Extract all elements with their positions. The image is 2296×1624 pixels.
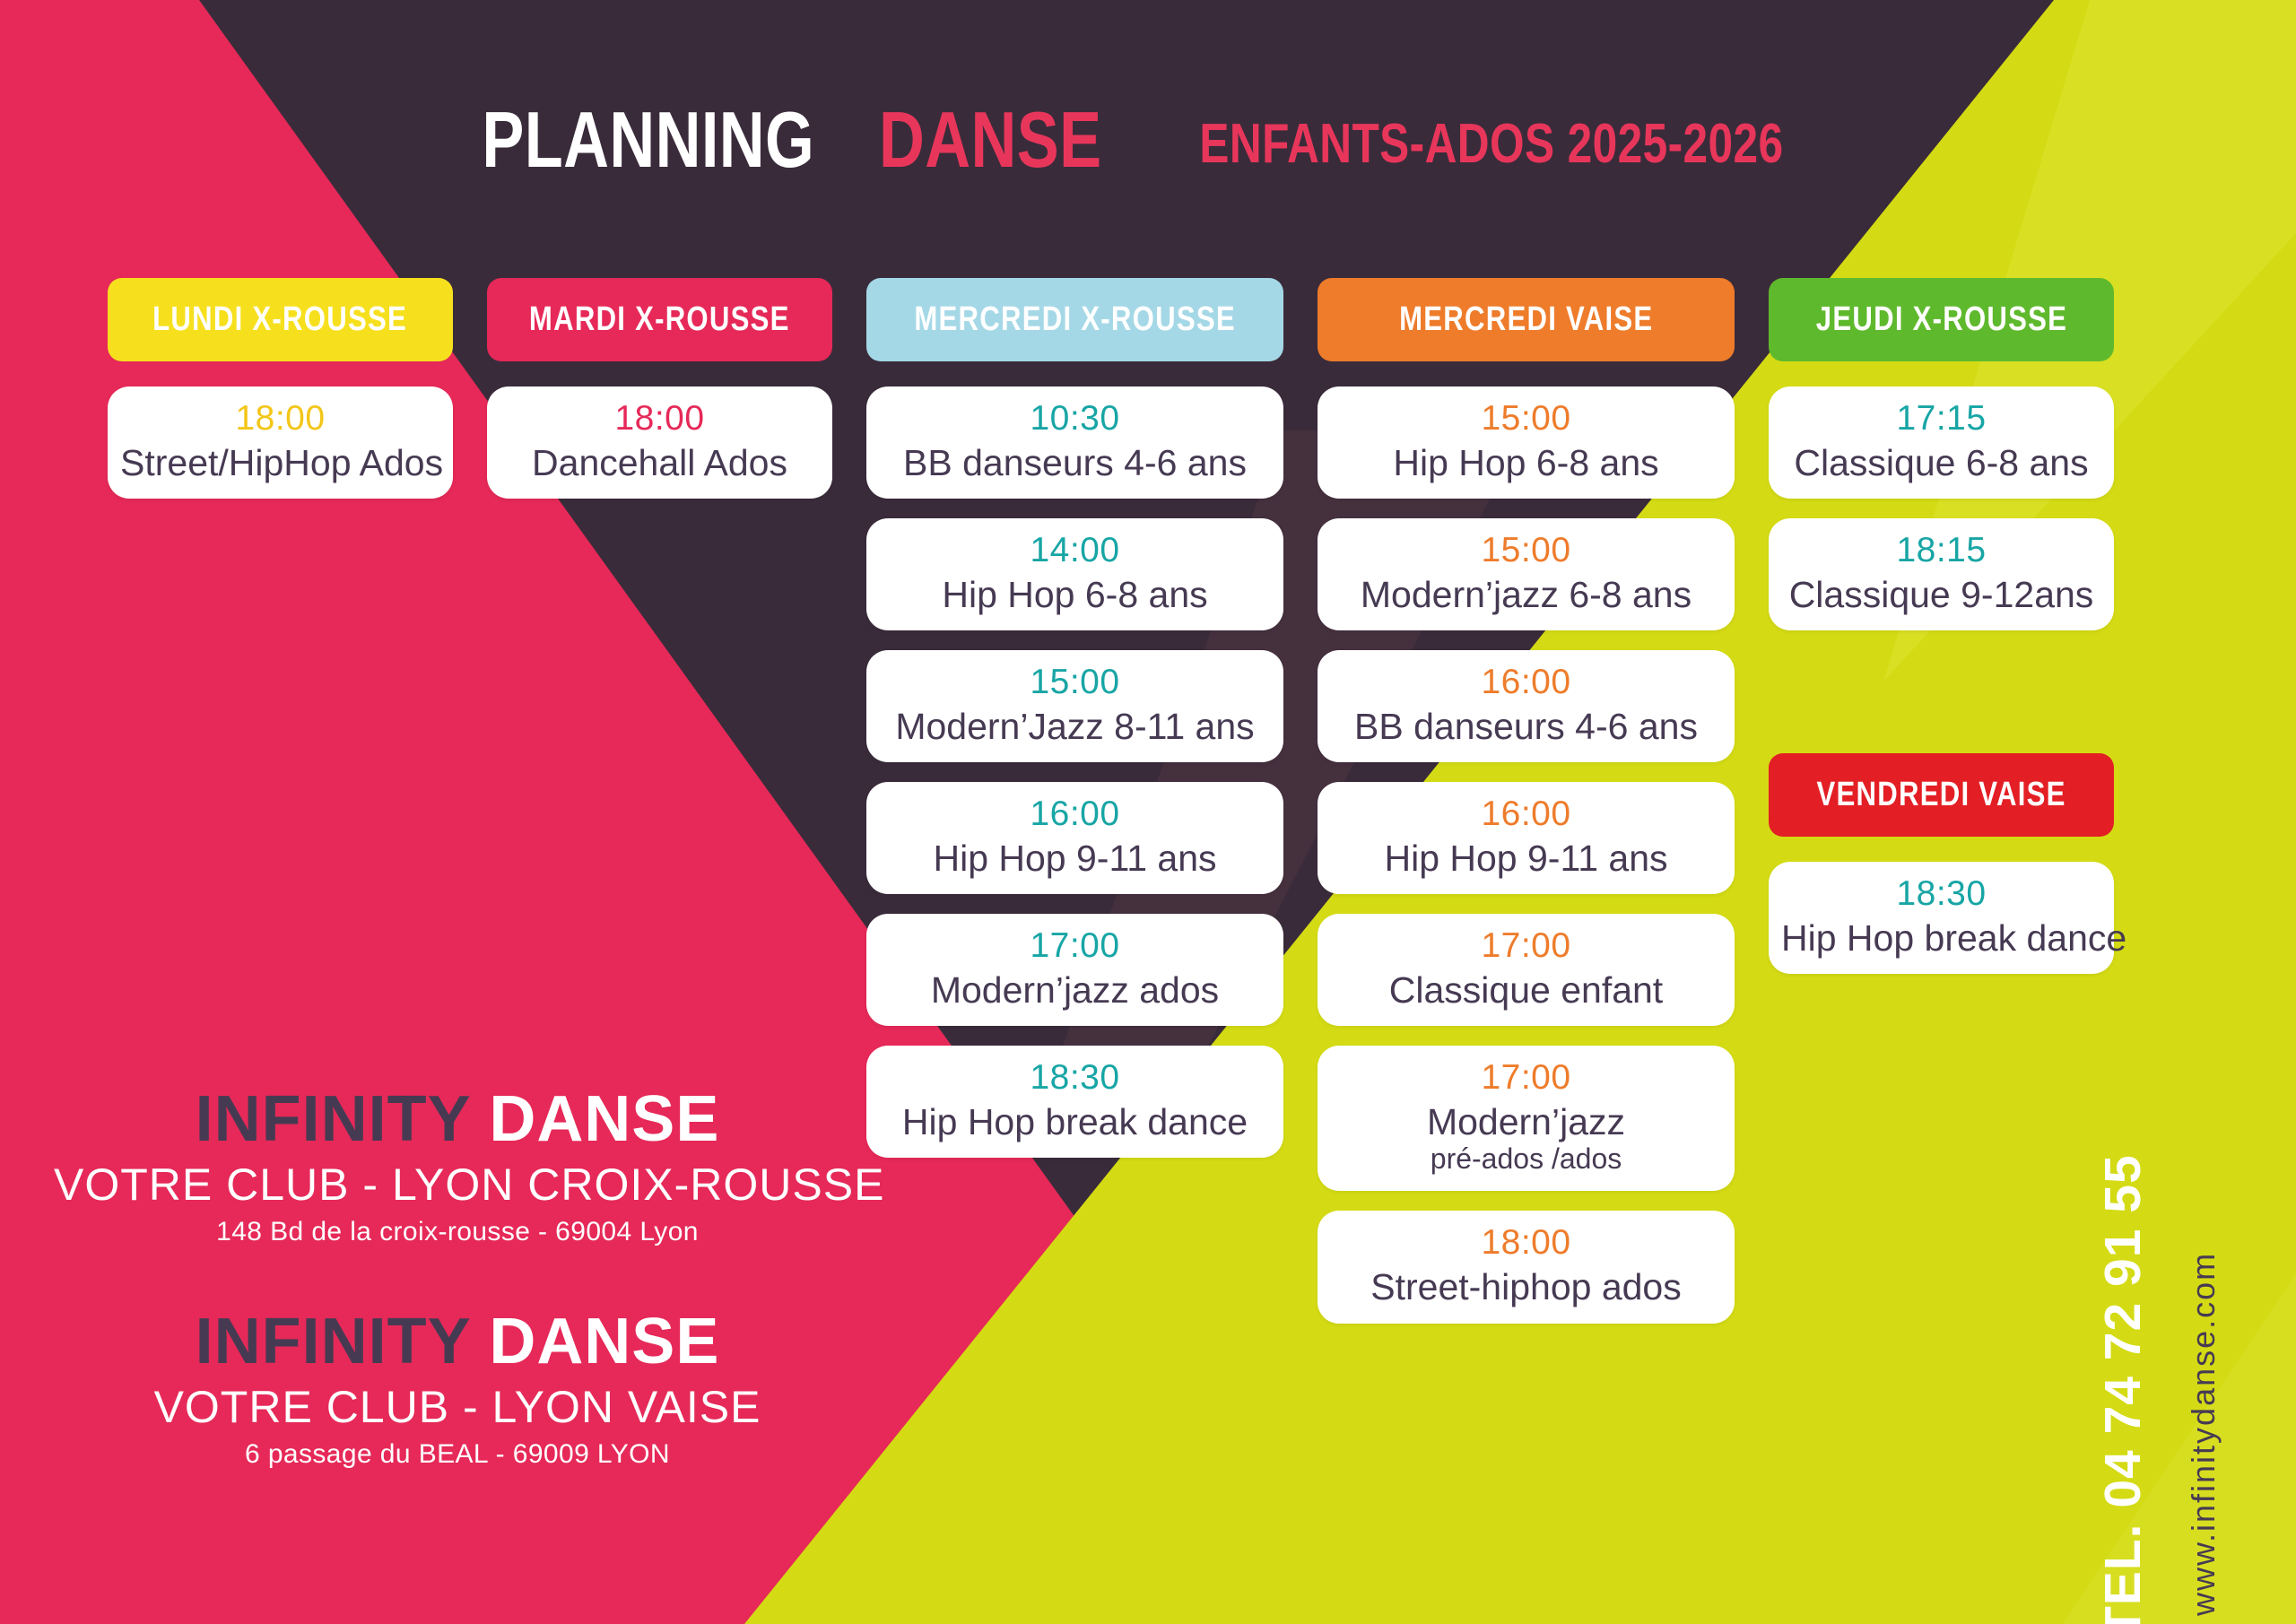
class-card[interactable]: 18:30 Hip Hop break dance bbox=[866, 1046, 1283, 1158]
day-header-lundi-x-rousse[interactable]: LUNDI X-ROUSSE bbox=[108, 278, 453, 361]
class-card[interactable]: 15:00 Hip Hop 6-8 ans bbox=[1318, 386, 1735, 499]
day-column-lundi-x-rousse: LUNDI X-ROUSSE 18:00 Street/HipHop Ados bbox=[108, 278, 453, 518]
day-header-label: JEUDI X-ROUSSE bbox=[1815, 300, 2066, 339]
day-header-mercredi-vaise[interactable]: MERCREDI VAISE bbox=[1318, 278, 1735, 361]
day-column-jeudi-vendredi: JEUDI X-ROUSSE 17:15 Classique 6-8 ans 1… bbox=[1769, 278, 2114, 994]
class-time: 16:00 bbox=[879, 796, 1271, 831]
logo-word-infinity: INFINITY bbox=[196, 1306, 471, 1377]
day-header-vendredi-vaise[interactable]: VENDREDI VAISE bbox=[1769, 753, 2114, 837]
logo-word-danse: DANSE bbox=[470, 1306, 719, 1377]
class-time: 15:00 bbox=[879, 664, 1271, 699]
class-name: Modern’jazz 6-8 ans bbox=[1330, 576, 1722, 614]
class-card[interactable]: 18:30 Hip Hop break dance bbox=[1769, 862, 2114, 974]
class-name: Classique enfant bbox=[1330, 971, 1722, 1010]
logo-infinity-danse: INFINITY DANSE bbox=[54, 1087, 861, 1151]
class-card[interactable]: 17:00 Modern’jazz ados bbox=[866, 914, 1283, 1026]
day-header-label: MERCREDI VAISE bbox=[1399, 300, 1653, 339]
day-column-mardi-x-rousse: MARDI X-ROUSSE 18:00 Dancehall Ados bbox=[487, 278, 832, 518]
class-card[interactable]: 17:15 Classique 6-8 ans bbox=[1769, 386, 2114, 499]
day-header-jeudi-x-rousse[interactable]: JEUDI X-ROUSSE bbox=[1769, 278, 2114, 361]
class-name: Hip Hop 6-8 ans bbox=[879, 576, 1271, 614]
class-time: 18:00 bbox=[1330, 1225, 1722, 1260]
class-time: 18:00 bbox=[120, 401, 440, 436]
class-name: BB danseurs 4-6 ans bbox=[1330, 708, 1722, 746]
class-name: Classique 9-12ans bbox=[1781, 576, 2101, 614]
branding-address: 6 passage du BEAL - 69009 LYON bbox=[54, 1439, 861, 1470]
class-time: 15:00 bbox=[1330, 401, 1722, 436]
day-column-mercredi-x-rousse: MERCREDI X-ROUSSE 10:30 BB danseurs 4-6 … bbox=[866, 278, 1283, 1177]
class-time: 16:00 bbox=[1330, 664, 1722, 699]
day-header-label: LUNDI X-ROUSSE bbox=[153, 300, 408, 339]
class-name: Street/HipHop Ados bbox=[120, 444, 440, 482]
class-card[interactable]: 15:00 Modern’jazz 6-8 ans bbox=[1318, 518, 1735, 630]
class-name: Hip Hop break dance bbox=[879, 1103, 1271, 1142]
branding-address: 148 Bd de la croix-rousse - 69004 Lyon bbox=[54, 1217, 861, 1247]
class-name: Hip Hop break dance bbox=[1781, 919, 2101, 958]
class-card[interactable]: 16:00 BB danseurs 4-6 ans bbox=[1318, 650, 1735, 762]
class-name: Street-hiphop ados bbox=[1330, 1268, 1722, 1307]
class-time: 14:00 bbox=[879, 533, 1271, 568]
contact-phone: TEL. 04 74 72 91 55 bbox=[2093, 1154, 2152, 1624]
class-name: Hip Hop 9-11 ans bbox=[1330, 839, 1722, 878]
class-time: 10:30 bbox=[879, 401, 1271, 436]
class-time: 17:15 bbox=[1781, 401, 2101, 436]
branding-croix-rousse: INFINITY DANSE VOTRE CLUB - LYON CROIX-R… bbox=[54, 1087, 861, 1247]
class-card[interactable]: 18:15 Classique 9-12ans bbox=[1769, 518, 2114, 630]
class-time: 18:15 bbox=[1781, 533, 2101, 568]
column-spacer bbox=[1769, 650, 2114, 753]
title-accent: DANSE bbox=[879, 94, 1101, 186]
class-card[interactable]: 18:00 Street-hiphop ados bbox=[1318, 1211, 1735, 1323]
logo-infinity-danse: INFINITY DANSE bbox=[54, 1309, 861, 1374]
class-time: 17:00 bbox=[1330, 928, 1722, 963]
class-card[interactable]: 15:00 Modern’Jazz 8-11 ans bbox=[866, 650, 1283, 762]
class-card[interactable]: 17:00 Modern’jazz pré-ados /ados bbox=[1318, 1046, 1735, 1191]
day-header-label: VENDREDI VAISE bbox=[1816, 776, 2066, 814]
class-name: Modern’jazz bbox=[1330, 1103, 1722, 1142]
class-name: BB danseurs 4-6 ans bbox=[879, 444, 1271, 482]
logo-word-danse: DANSE bbox=[470, 1083, 719, 1155]
class-time: 17:00 bbox=[1330, 1060, 1722, 1095]
branding-club-line: VOTRE CLUB - LYON VAISE bbox=[54, 1379, 861, 1436]
contact-website[interactable]: www.infinitydanse.com bbox=[2185, 1252, 2222, 1616]
logo-word-infinity: INFINITY bbox=[196, 1083, 471, 1155]
class-card[interactable]: 18:00 Dancehall Ados bbox=[487, 386, 832, 499]
branding-vaise: INFINITY DANSE VOTRE CLUB - LYON VAISE 6… bbox=[54, 1309, 861, 1470]
class-time: 18:30 bbox=[879, 1060, 1271, 1095]
class-card[interactable]: 18:00 Street/HipHop Ados bbox=[108, 386, 453, 499]
day-header-label: MARDI X-ROUSSE bbox=[529, 300, 790, 339]
class-subname: pré-ados /ados bbox=[1330, 1143, 1722, 1175]
class-time: 15:00 bbox=[1330, 533, 1722, 568]
day-column-mercredi-vaise: MERCREDI VAISE 15:00 Hip Hop 6-8 ans 15:… bbox=[1318, 278, 1735, 1343]
page-title: PLANNING DANSE ENFANTS-ADOS 2025-2026 bbox=[0, 94, 2296, 186]
title-subtitle: ENFANTS-ADOS 2025-2026 bbox=[1199, 112, 1783, 176]
title-main: PLANNING bbox=[482, 94, 814, 186]
branding-club-line: VOTRE CLUB - LYON CROIX-ROUSSE bbox=[54, 1157, 861, 1213]
class-name: Classique 6-8 ans bbox=[1781, 444, 2101, 482]
class-name: Modern’Jazz 8-11 ans bbox=[879, 708, 1271, 746]
class-name: Dancehall Ados bbox=[500, 444, 820, 482]
class-card[interactable]: 14:00 Hip Hop 6-8 ans bbox=[866, 518, 1283, 630]
class-card[interactable]: 16:00 Hip Hop 9-11 ans bbox=[1318, 782, 1735, 894]
class-time: 17:00 bbox=[879, 928, 1271, 963]
class-name: Modern’jazz ados bbox=[879, 971, 1271, 1010]
class-card[interactable]: 16:00 Hip Hop 9-11 ans bbox=[866, 782, 1283, 894]
day-header-mardi-x-rousse[interactable]: MARDI X-ROUSSE bbox=[487, 278, 832, 361]
class-time: 18:30 bbox=[1781, 876, 2101, 911]
class-card[interactable]: 17:00 Classique enfant bbox=[1318, 914, 1735, 1026]
class-card[interactable]: 10:30 BB danseurs 4-6 ans bbox=[866, 386, 1283, 499]
day-header-mercredi-x-rousse[interactable]: MERCREDI X-ROUSSE bbox=[866, 278, 1283, 361]
class-time: 16:00 bbox=[1330, 796, 1722, 831]
class-time: 18:00 bbox=[500, 401, 820, 436]
day-header-label: MERCREDI X-ROUSSE bbox=[914, 300, 1236, 339]
class-name: Hip Hop 9-11 ans bbox=[879, 839, 1271, 878]
class-name: Hip Hop 6-8 ans bbox=[1330, 444, 1722, 482]
